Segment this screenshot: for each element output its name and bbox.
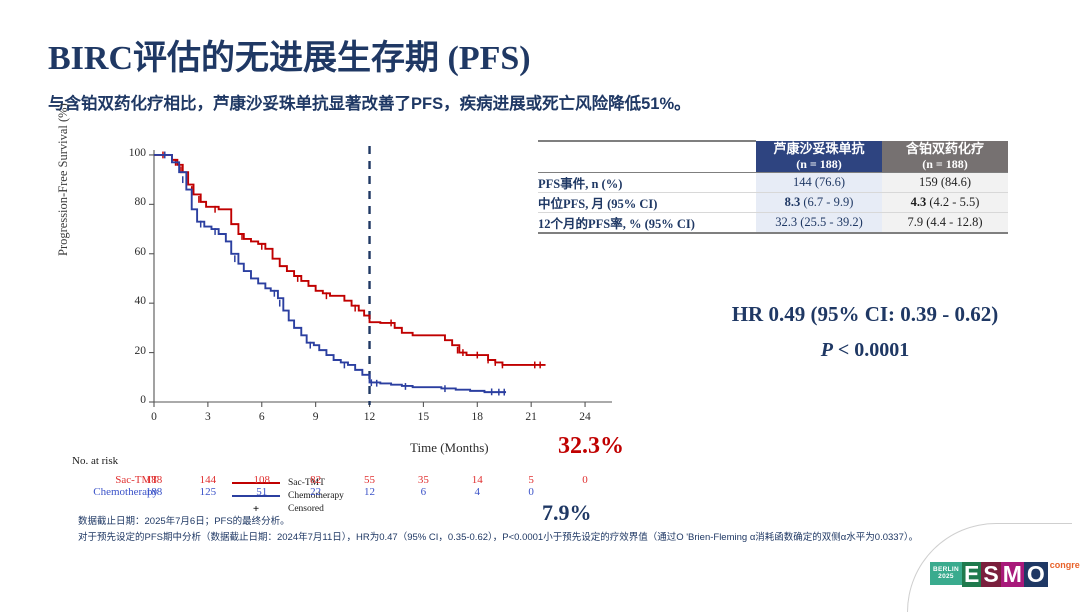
y-axis-title: Progression-Free Survival (%) bbox=[56, 103, 71, 256]
cell-median-pfs-sac: 8.3 (6.7 - 9.9) bbox=[756, 193, 882, 213]
p-value-symbol: P bbox=[821, 339, 833, 361]
page-subtitle: 与含铂双药化疗相比，芦康沙妥珠单抗显著改善了PFS，疾病进展或死亡风险降低51%… bbox=[48, 90, 691, 114]
x-tick-label: 15 bbox=[410, 411, 436, 423]
slide-root: BIRC评估的无进展生存期 (PFS) 与含铂双药化疗相比，芦康沙妥珠单抗显著改… bbox=[0, 0, 1080, 608]
logo-congress-text: congress bbox=[1050, 560, 1080, 570]
pfs-summary-table: 芦康沙妥珠单抗 (n = 188) 含铂双药化疗 (n = 188) PFS事件… bbox=[538, 140, 1008, 234]
cell-median-pfs-chemo-value: 4.3 bbox=[911, 195, 927, 209]
esmo-logo: BERLIN 2025 ESMO congress bbox=[916, 554, 1066, 598]
table-row: 中位PFS, 月 (95% CI) 8.3 (6.7 - 9.9) 4.3 (4… bbox=[538, 193, 1008, 213]
at-risk-value: 14 bbox=[462, 474, 492, 486]
table-header-chemo-name: 含铂双药化疗 bbox=[882, 141, 1008, 157]
table-header-chemo-n: (n = 188) bbox=[882, 157, 1008, 172]
at-risk-value: 12 bbox=[355, 486, 385, 498]
at-risk-value: 144 bbox=[193, 474, 223, 486]
x-tick-label: 24 bbox=[572, 411, 598, 423]
cell-median-pfs-sac-value: 8.3 bbox=[785, 195, 801, 209]
logo-city: BERLIN bbox=[933, 566, 959, 573]
cell-median-pfs-sac-ci: (6.7 - 9.9) bbox=[800, 195, 853, 209]
cell-pfs-events-sac: 144 (76.6) bbox=[756, 173, 882, 193]
logo-letter-s: S bbox=[981, 562, 1000, 587]
at-risk-value: 35 bbox=[408, 474, 438, 486]
at-risk-value: 188 bbox=[139, 486, 169, 498]
at-risk-value: 108 bbox=[247, 474, 277, 486]
y-tick-label: 20 bbox=[120, 345, 146, 357]
y-tick-label: 60 bbox=[120, 246, 146, 258]
footnotes: 数据截止日期：2025年7月6日；PFS的最终分析。 对于预先设定的PFS期中分… bbox=[78, 514, 1038, 545]
cell-median-pfs-chemo: 4.3 (4.2 - 5.5) bbox=[882, 193, 1008, 213]
table-header-sac-tmt-n: (n = 188) bbox=[756, 157, 882, 172]
cell-pfs-events-chemo: 159 (84.6) bbox=[882, 173, 1008, 193]
cell-12mo-pfs-sac: 32.3 (25.5 - 39.2) bbox=[756, 213, 882, 234]
y-tick-label: 100 bbox=[120, 147, 146, 159]
at-risk-value: 0 bbox=[516, 486, 546, 498]
row-label-median-pfs: 中位PFS, 月 (95% CI) bbox=[538, 193, 756, 213]
hazard-ratio-text: HR 0.49 (95% CI: 0.39 - 0.62) bbox=[700, 302, 1030, 327]
logo-inner: BERLIN 2025 ESMO congress bbox=[930, 562, 1080, 587]
footnote-line-2: 对于预先设定的PFS期中分析（数据截止日期：2024年7月11日），HR为0.4… bbox=[78, 530, 1038, 546]
logo-letter-o: O bbox=[1024, 562, 1048, 587]
at-risk-value: 82 bbox=[301, 474, 331, 486]
at-risk-value: 4 bbox=[462, 486, 492, 498]
table-header-chemo: 含铂双药化疗 (n = 188) bbox=[882, 141, 1008, 173]
at-risk-table: Sac-TMT1881441088255351450Chemotherapy18… bbox=[72, 474, 872, 504]
at-risk-value: 55 bbox=[355, 474, 385, 486]
at-risk-value: 125 bbox=[193, 486, 223, 498]
page-title: BIRC评估的无进展生存期 (PFS) bbox=[48, 30, 531, 79]
logo-letter-m: M bbox=[1001, 562, 1024, 587]
row-label-pfs-events: PFS事件, n (%) bbox=[538, 173, 756, 193]
y-tick-label: 0 bbox=[120, 394, 146, 406]
row-label-12mo-pfs-rate: 12个月的PFS率, % (95% CI) bbox=[538, 213, 756, 234]
at-risk-value: 51 bbox=[247, 486, 277, 498]
p-value-value: < 0.0001 bbox=[833, 339, 909, 361]
y-tick-label: 40 bbox=[120, 295, 146, 307]
x-tick-label: 0 bbox=[141, 411, 167, 423]
plus-symbol-icon: + bbox=[232, 503, 280, 515]
x-tick-label: 9 bbox=[303, 411, 329, 423]
x-tick-label: 6 bbox=[249, 411, 275, 423]
logo-esmo-letters: ESMO bbox=[962, 562, 1048, 587]
logo-year: 2025 bbox=[933, 573, 959, 580]
legend-label-censored: Censored bbox=[288, 504, 324, 514]
x-tick-label: 12 bbox=[357, 411, 383, 423]
table-header-sac-tmt-name: 芦康沙妥珠单抗 bbox=[756, 141, 882, 157]
logo-berlin-badge: BERLIN 2025 bbox=[930, 562, 962, 585]
at-risk-value: 22 bbox=[301, 486, 331, 498]
table-row: 12个月的PFS率, % (95% CI) 32.3 (25.5 - 39.2)… bbox=[538, 213, 1008, 234]
y-tick-label: 80 bbox=[120, 196, 146, 208]
at-risk-value: 5 bbox=[516, 474, 546, 486]
table-row: PFS事件, n (%) 144 (76.6) 159 (84.6) bbox=[538, 173, 1008, 193]
at-risk-value: 188 bbox=[139, 474, 169, 486]
at-risk-value: 6 bbox=[408, 486, 438, 498]
statistics-block: HR 0.49 (95% CI: 0.39 - 0.62) P < 0.0001 bbox=[700, 302, 1030, 362]
cell-median-pfs-chemo-ci: (4.2 - 5.5) bbox=[926, 195, 979, 209]
at-risk-title: No. at risk bbox=[72, 455, 118, 467]
logo-letter-e: E bbox=[962, 562, 981, 587]
x-tick-label: 21 bbox=[518, 411, 544, 423]
cell-12mo-pfs-chemo: 7.9 (4.4 - 12.8) bbox=[882, 213, 1008, 234]
table-header-sac-tmt: 芦康沙妥珠单抗 (n = 188) bbox=[756, 141, 882, 173]
at-risk-value: 0 bbox=[570, 474, 600, 486]
annotation-sac-tmt-12mo: 32.3% bbox=[558, 433, 624, 460]
x-tick-label: 3 bbox=[195, 411, 221, 423]
p-value-text: P < 0.0001 bbox=[700, 339, 1030, 362]
footnote-line-1: 数据截止日期：2025年7月6日；PFS的最终分析。 bbox=[78, 514, 1038, 530]
table-header-blank bbox=[538, 141, 756, 173]
table-header-row: 芦康沙妥珠单抗 (n = 188) 含铂双药化疗 (n = 188) bbox=[538, 141, 1008, 173]
x-axis-title: Time (Months) bbox=[410, 440, 489, 456]
x-tick-label: 18 bbox=[464, 411, 490, 423]
